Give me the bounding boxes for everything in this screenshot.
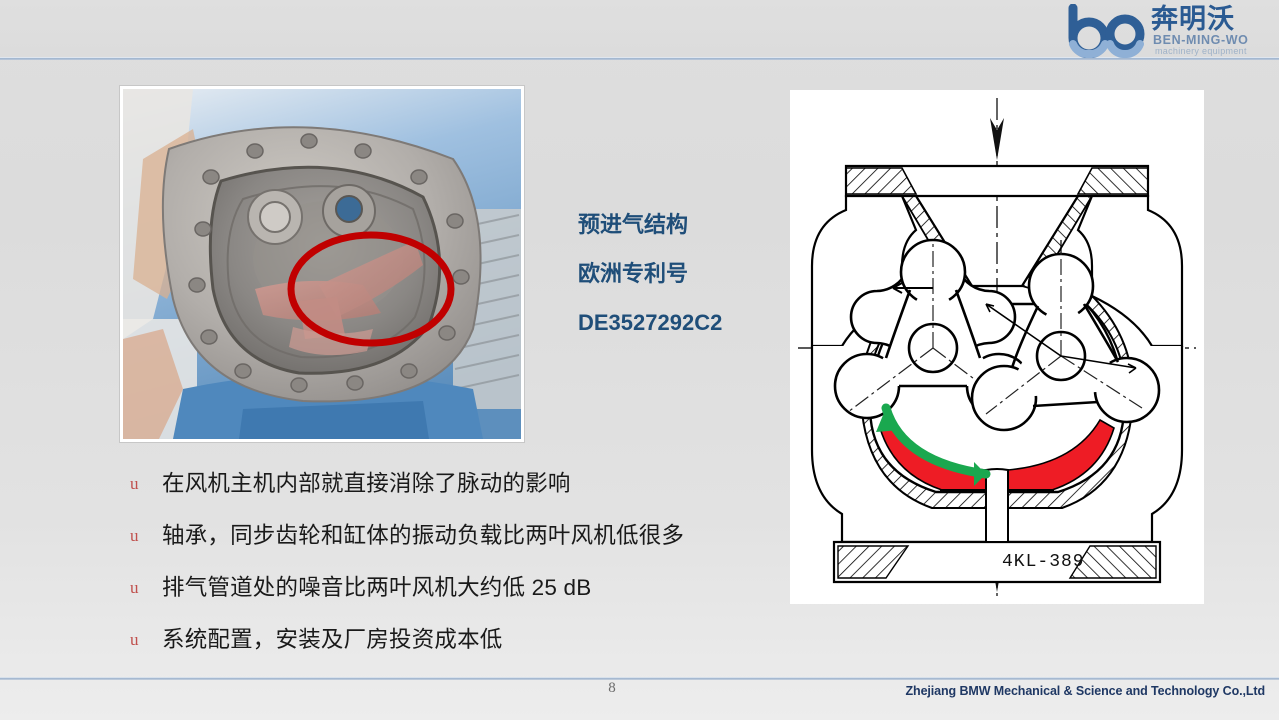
bullet-text: 排气管道处的噪音比两叶风机大约低 25 dB [162,562,591,614]
caption-line-2: 欧洲专利号 [578,249,808,298]
logo-latin-name: BEN-MING-WO [1153,33,1248,47]
bullet-text: 轴承，同步齿轮和缸体的振动负载比两叶风机低很多 [162,510,684,562]
bullet-text: 系统配置，安装及厂房投资成本低 [162,614,503,666]
bullet-list: u在风机主机内部就直接消除了脉动的影响 u轴承，同步齿轮和缸体的振动负载比两叶风… [122,458,782,666]
bullet-marker-icon: u [122,562,162,614]
caption-line-1: 预进气结构 [578,200,808,249]
patent-caption: 预进气结构 欧洲专利号 DE3527292C2 [578,200,808,347]
casing-photo [123,89,521,439]
bullet-marker-icon: u [122,458,162,510]
company-logo: 奔明沃 BEN-MING-WO machinery equipment [1063,4,1275,58]
list-item: u排气管道处的噪音比两叶风机大约低 25 dB [122,562,782,614]
slide-canvas: 奔明沃 BEN-MING-WO machinery equipment [0,0,1279,720]
list-item: u轴承，同步齿轮和缸体的振动负载比两叶风机低很多 [122,510,782,562]
bullet-marker-icon: u [122,614,162,666]
caption-line-3: DE3527292C2 [578,298,808,347]
diagram-part-label: 4KL-389 [1002,552,1085,572]
casing-photo-frame [120,86,524,442]
logo-chinese-name: 奔明沃 [1151,4,1235,34]
logo-tagline: machinery equipment [1155,46,1247,56]
footer-divider-rule [0,677,1279,680]
bullet-text: 在风机主机内部就直接消除了脉动的影响 [162,458,571,510]
footer-company-name: Zhejiang BMW Mechanical & Science and Te… [906,684,1266,698]
bullet-marker-icon: u [122,510,162,562]
list-item: u在风机主机内部就直接消除了脉动的影响 [122,458,782,510]
list-item: u系统配置，安装及厂房投资成本低 [122,614,782,666]
blower-section-diagram: 4KL-389 [790,90,1204,604]
page-number: 8 [592,680,632,697]
